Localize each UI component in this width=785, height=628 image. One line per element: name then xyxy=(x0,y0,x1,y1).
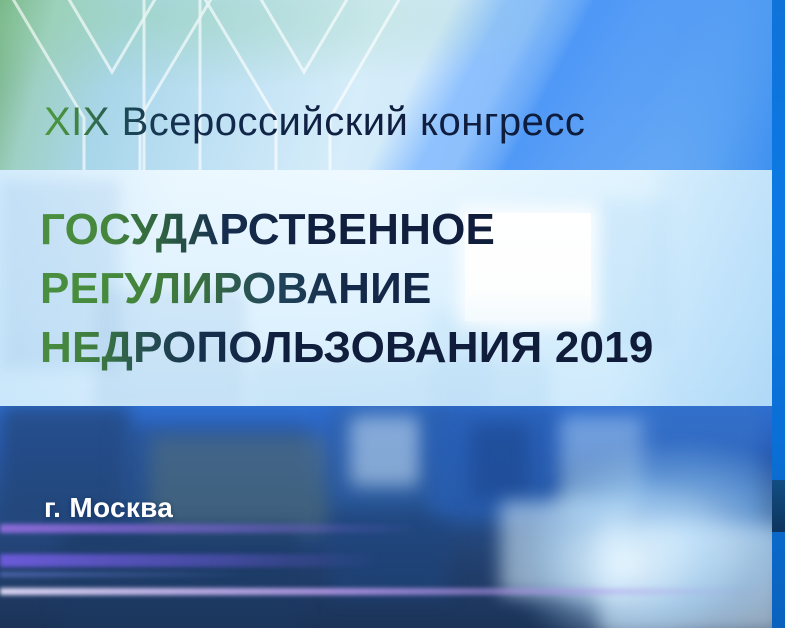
right-edge-strip xyxy=(772,0,785,628)
top-banner-band: XIX Всероссийский конгресс xyxy=(0,0,785,170)
title-line-2: РЕГУЛИРОВАНИЕ xyxy=(40,259,654,318)
right-strip-dark-notch xyxy=(772,480,785,532)
violet-streak-4 xyxy=(0,572,250,577)
violet-streak-3 xyxy=(0,588,760,595)
slide-title: ГОСУДАРСТВЕННОЕ РЕГУЛИРОВАНИЕ НЕДРОПОЛЬЗ… xyxy=(40,200,654,377)
violet-streak-2 xyxy=(0,554,380,567)
violet-streak-1 xyxy=(0,524,420,533)
slide-subtitle: XIX Всероссийский конгресс xyxy=(44,100,585,145)
title-line-1: ГОСУДАРСТВЕННОЕ xyxy=(40,200,654,259)
city-label: г. Москва xyxy=(44,492,173,524)
congress-title-slide: XIX Всероссийский конгресс ГОСУДАРСТВЕНН… xyxy=(0,0,785,628)
title-line-3: НЕДРОПОЛЬЗОВАНИЯ 2019 xyxy=(40,318,654,377)
photo-highlight-lower-right xyxy=(485,458,765,628)
